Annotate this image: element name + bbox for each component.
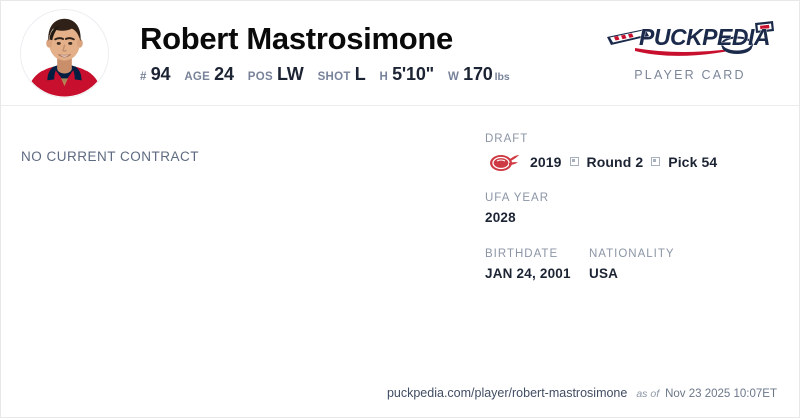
red-wings-logo-icon [485,151,519,173]
draft-details: 2019 Round 2 Pick 54 [530,154,717,170]
footer-as-of-label: as of [636,388,659,400]
separator-icon [570,157,579,166]
nationality-value: USA [589,265,709,283]
draft-pick: Pick 54 [668,154,717,170]
stat-weight-label: W [448,71,459,83]
stat-height-label: H [380,71,389,83]
nationality-label: NATIONALITY [589,247,709,261]
brand-logo[interactable]: PUCKPEDIA PLAYER CARD [605,15,775,82]
birthdate-label: BIRTHDATE [485,247,589,261]
stat-weight: W 170 lbs [448,64,510,85]
contract-status: NO CURRENT CONTRACT [21,149,199,164]
footer-timestamp: Nov 23 2025 10:07ET [665,388,777,400]
avatar [20,9,109,98]
stat-height: H 5'10" [380,64,434,85]
draft-label: DRAFT [485,132,785,146]
birthdate-block: BIRTHDATE JAN 24, 2001 [485,247,589,283]
page-title: Robert Mastrosimone [140,21,453,57]
ufa-block: UFA YEAR 2028 [485,191,785,227]
draft-round: Round 2 [587,154,644,170]
footer-url[interactable]: puckpedia.com/player/robert-mastrosimone [387,386,627,400]
ufa-value: 2028 [485,209,785,227]
stat-age-value: 24 [214,64,234,85]
puckpedia-logo-icon: PUCKPEDIA [605,15,775,63]
stat-weight-value: 170 [463,64,492,85]
card-header: Robert Mastrosimone # 94 AGE 24 POS LW S… [1,1,800,106]
birthdate-value: JAN 24, 2001 [485,265,589,283]
stat-position: POS LW [248,64,304,85]
nationality-block: NATIONALITY USA [589,247,709,283]
card-footer: puckpedia.com/player/robert-mastrosimone… [387,386,777,400]
player-card: Robert Mastrosimone # 94 AGE 24 POS LW S… [0,0,800,418]
ufa-label: UFA YEAR [485,191,785,205]
stat-shot-value: L [355,64,366,85]
svg-text:PUCKPEDIA: PUCKPEDIA [639,24,770,50]
draft-line: 2019 Round 2 Pick 54 [485,151,785,173]
brand-subtitle: PLAYER CARD [605,68,775,82]
stat-shot: SHOT L [318,64,366,85]
draft-block: DRAFT 2019 Round 2 Pick 54 [485,132,785,173]
stat-shot-label: SHOT [318,71,351,83]
player-headshot-image [21,10,108,97]
stat-number-value: 94 [151,64,171,85]
stat-number-label: # [140,71,147,83]
stat-age-label: AGE [184,71,210,83]
stat-weight-unit: lbs [495,71,510,83]
stat-age: AGE 24 [184,64,233,85]
birth-nationality-row: BIRTHDATE JAN 24, 2001 NATIONALITY USA [485,247,785,283]
stat-height-value: 5'10" [392,64,434,85]
draft-year: 2019 [530,154,562,170]
stat-number: # 94 [140,64,170,85]
stat-position-label: POS [248,71,273,83]
player-info-column: DRAFT 2019 Round 2 Pick 54 [485,132,785,283]
player-stat-row: # 94 AGE 24 POS LW SHOT L H 5'10" W 170 [140,64,524,85]
separator-icon [651,157,660,166]
stat-position-value: LW [277,64,304,85]
